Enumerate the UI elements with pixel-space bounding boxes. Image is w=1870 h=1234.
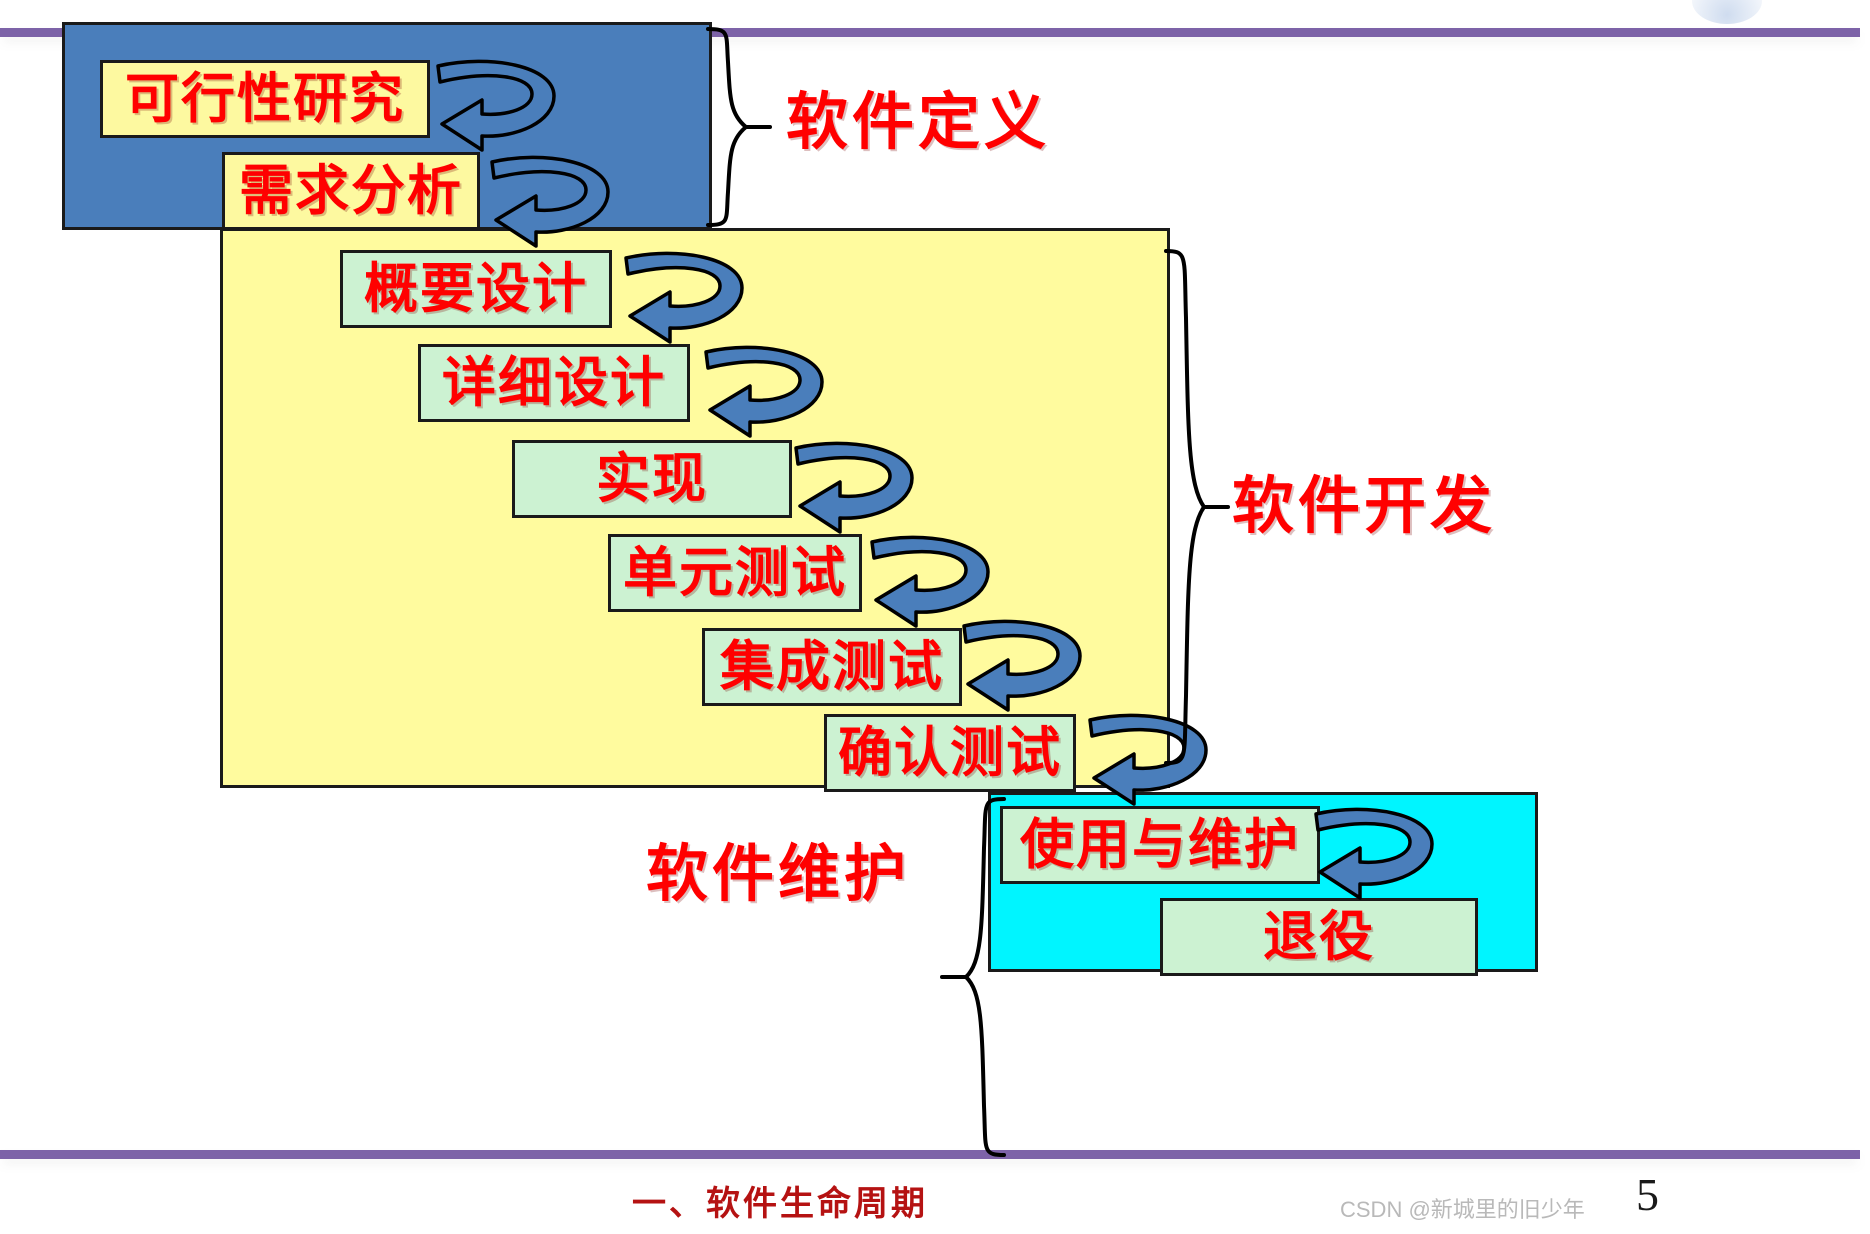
phase-label-software-maintenance: 软件维护 — [646, 844, 910, 906]
phase-label-software-development: 软件开发 — [1232, 476, 1496, 538]
bottom-divider-rule — [0, 1150, 1860, 1159]
stage-box-outline-design[interactable]: 概要设计 — [340, 250, 612, 328]
csdn-watermark: CSDN @新城里的旧少年 — [1340, 1192, 1585, 1224]
stage-box-use-and-maintenance[interactable]: 使用与维护 — [1000, 806, 1320, 884]
stage-box-detailed-design[interactable]: 详细设计 — [418, 344, 690, 422]
stage-box-validation-test[interactable]: 确认测试 — [824, 714, 1076, 792]
stage-box-retirement[interactable]: 退役 — [1160, 898, 1478, 976]
stage-box-feasibility-study[interactable]: 可行性研究 — [100, 60, 430, 138]
footer-section-title: 一、软件生命周期 — [0, 1176, 1560, 1225]
stage-box-implementation[interactable]: 实现 — [512, 440, 792, 518]
phase-label-software-definition: 软件定义 — [786, 92, 1050, 154]
slide-canvas: 可行性研究 需求分析 概要设计 详细设计 实现 单元测试 集成测试 确认测试 使… — [0, 0, 1870, 1234]
stage-box-requirement-analysis[interactable]: 需求分析 — [222, 152, 480, 230]
stage-box-integration-test[interactable]: 集成测试 — [702, 628, 962, 706]
stage-box-unit-test[interactable]: 单元测试 — [608, 534, 862, 612]
corner-orb-icon — [1692, 0, 1762, 24]
slide-number: 5 — [1636, 1172, 1659, 1218]
